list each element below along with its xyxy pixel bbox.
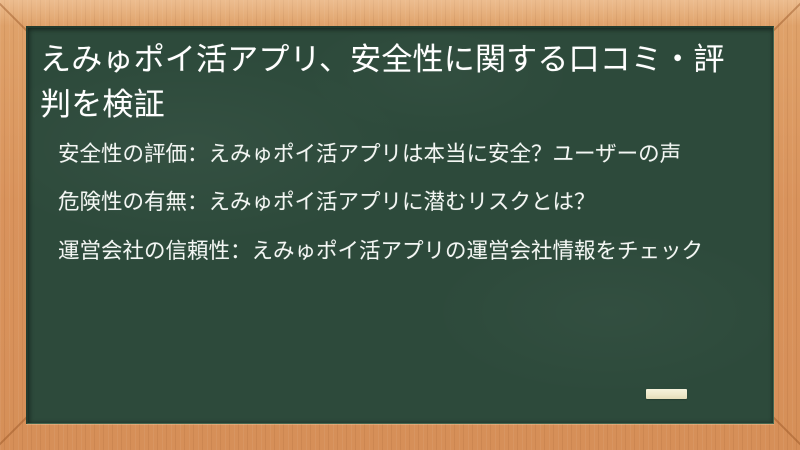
- chalkboard-surface: えみゅポイ活アプリ、安全性に関する口コミ・評判を検証 安全性の評価：えみゅポイ活…: [26, 26, 774, 424]
- frame-highlight: [0, 0, 800, 26]
- page-title: えみゅポイ活アプリ、安全性に関する口コミ・評判を検証: [40, 38, 755, 128]
- chalkboard-wooden-frame: えみゅポイ活アプリ、安全性に関する口コミ・評判を検証 安全性の評価：えみゅポイ活…: [0, 0, 800, 450]
- topic-list: 安全性の評価：えみゅポイ活アプリは本当に安全？ユーザーの声 危険性の有無：えみゅ…: [40, 138, 755, 269]
- chalk-stick: [646, 389, 687, 399]
- list-item: 運営会社の信頼性：えみゅポイ活アプリの運営会社情報をチェック: [58, 235, 755, 269]
- list-item: 安全性の評価：えみゅポイ活アプリは本当に安全？ユーザーの声: [58, 138, 755, 172]
- board-content: えみゅポイ活アプリ、安全性に関する口コミ・評判を検証 安全性の評価：えみゅポイ活…: [28, 28, 773, 268]
- list-item: 危険性の有無：えみゅポイ活アプリに潜むリスクとは？: [58, 186, 755, 220]
